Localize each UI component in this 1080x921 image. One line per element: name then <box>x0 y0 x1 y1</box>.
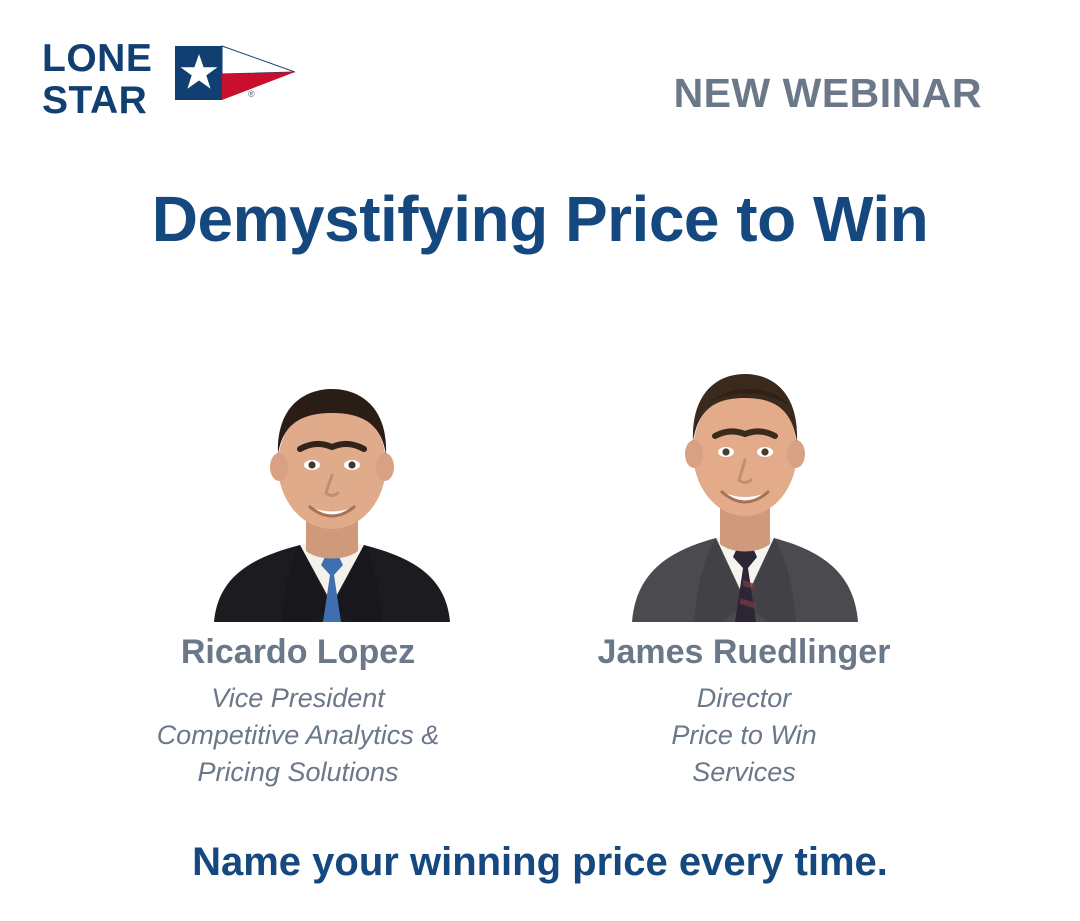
speaker-role-line: Pricing Solutions <box>88 754 508 791</box>
logo-wordmark: LONE STAR <box>42 38 192 123</box>
speaker-role-line: Price to Win <box>534 717 954 754</box>
tagline: Name your winning price every time. <box>0 840 1080 885</box>
portrait-illustration <box>196 369 468 622</box>
header: LONE STAR ® NEW WEBINAR <box>0 0 1080 150</box>
speaker-role: Vice President Competitive Analytics & P… <box>88 680 508 791</box>
page-title: Demystifying Price to Win <box>0 182 1080 256</box>
photo-frame <box>88 330 508 622</box>
speaker-role-line: Director <box>534 680 954 717</box>
registered-trademark-mark: ® <box>248 90 255 99</box>
logo-word-star: STAR <box>42 80 192 122</box>
logo-word-lone: LONE <box>42 38 192 80</box>
headshot-ricardo-lopez <box>196 369 468 622</box>
speaker-name: Ricardo Lopez <box>88 633 508 672</box>
speaker-role: Director Price to Win Services <box>534 680 954 791</box>
portrait-illustration <box>622 344 866 622</box>
speaker-name: James Ruedlinger <box>534 633 954 672</box>
texas-pennant-icon <box>175 44 295 106</box>
speakers-section: Ricardo Lopez Vice President Competitive… <box>0 330 1080 810</box>
lone-star-logo[interactable]: LONE STAR ® <box>42 38 292 123</box>
speaker-role-line: Vice President <box>88 680 508 717</box>
photo-frame <box>534 330 954 622</box>
speaker-card-ricardo-lopez: Ricardo Lopez Vice President Competitive… <box>88 330 508 810</box>
speaker-card-james-ruedlinger: James Ruedlinger Director Price to Win S… <box>534 330 954 810</box>
headshot-james-ruedlinger <box>622 344 866 622</box>
speaker-role-line: Services <box>534 754 954 791</box>
speaker-role-line: Competitive Analytics & <box>88 717 508 754</box>
eyebrow-new-webinar: NEW WEBINAR <box>674 70 982 117</box>
